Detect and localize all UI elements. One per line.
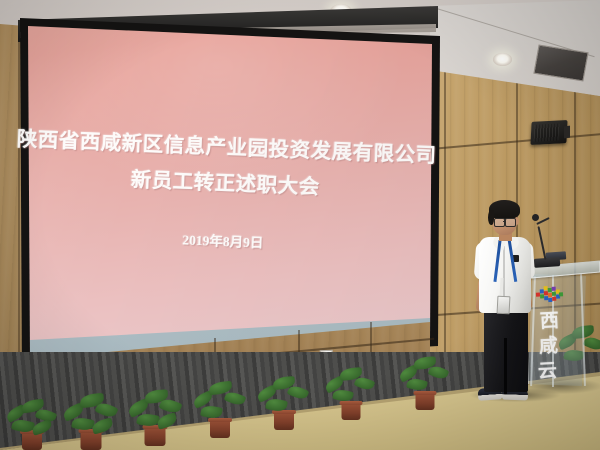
- potted-plant: [62, 388, 120, 450]
- plant-pot: [274, 412, 294, 430]
- potted-plant: [398, 352, 452, 410]
- plant-leaf: [406, 377, 428, 392]
- ceiling-downlight-icon: [493, 53, 512, 66]
- potted-plant: [324, 362, 378, 420]
- potted-plant: [126, 382, 184, 446]
- plant-leaf: [287, 384, 310, 402]
- id-badge: [497, 296, 511, 315]
- plant-leaf: [428, 364, 450, 382]
- wall-panel-seam-vertical: [18, 0, 20, 400]
- speaker-bracket: [564, 126, 570, 139]
- plant-leaf: [156, 412, 179, 430]
- glasses-bridge: [503, 221, 506, 222]
- plant-leaf: [94, 400, 118, 420]
- wall-panel-seam-vertical: [444, 64, 446, 364]
- glasses-lens-left: [494, 218, 505, 227]
- plant-pot: [22, 432, 42, 450]
- plant-pot: [416, 393, 435, 410]
- presenter-figure: [466, 198, 546, 404]
- plant-leaf: [224, 390, 247, 408]
- trouser-seam: [504, 338, 507, 394]
- potted-plant: [192, 376, 248, 438]
- potted-plant: [4, 392, 60, 450]
- plant-leaf: [354, 375, 376, 392]
- plant-pot: [342, 403, 361, 420]
- plant-pot: [210, 420, 230, 438]
- plant-pot: [81, 431, 102, 450]
- plant-pot: [145, 427, 166, 446]
- potted-plant: [256, 370, 312, 430]
- speaker-grille: [534, 123, 560, 141]
- wall-speaker-icon: [530, 120, 567, 145]
- presentation-room-scene: 陕西省西咸新区信息产业园投资发展有限公司 新员工转正述职大会 2019年8月9日: [0, 0, 600, 450]
- glasses-lens-right: [505, 218, 516, 227]
- projection-screen-surface: [8, 8, 442, 373]
